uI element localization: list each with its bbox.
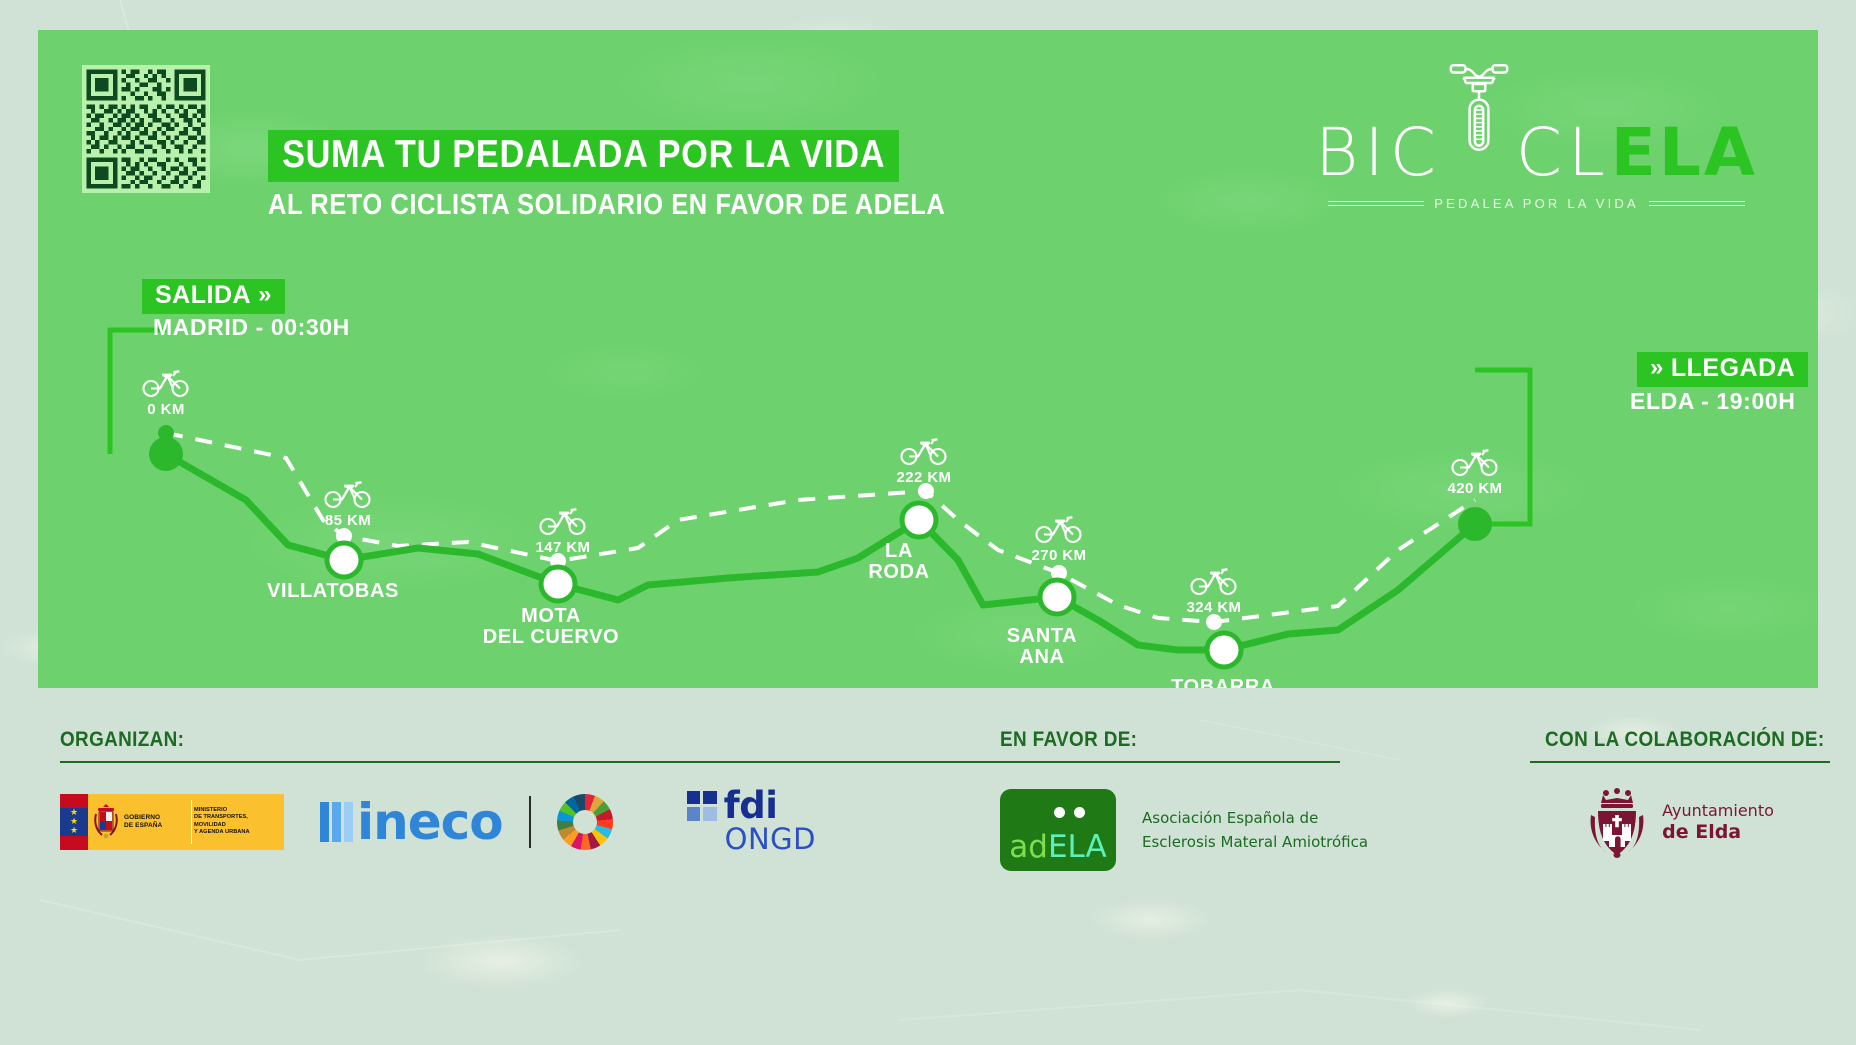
waypoint-km-label: 222 KM xyxy=(897,470,952,486)
collaboration-title: CON LA COLABORACIÓN DE: xyxy=(1545,728,1815,752)
start-badge-label: SALIDA xyxy=(155,283,251,308)
ineco-logo: ineco xyxy=(320,797,503,847)
bicycle-icon xyxy=(539,506,587,541)
fdi-ongd-logo: fdi ONGD xyxy=(687,789,816,854)
bicycle-icon xyxy=(1190,566,1238,601)
waypoint-city-label: LA RODA xyxy=(868,541,929,583)
elda-logo: Ayuntamiento de Elda xyxy=(1530,785,1830,861)
waypoint-city-label: VILLATOBAS xyxy=(267,581,399,602)
adela-name-line-1: Asociación Española de xyxy=(1142,806,1368,830)
station-node[interactable] xyxy=(1040,580,1074,614)
gobierno-de-espana-logo: ★★★ GOBIE xyxy=(60,794,284,850)
route-panel: SUMA TU PEDALADA POR LA VIDA AL RETO CIC… xyxy=(38,30,1818,688)
station-node[interactable] xyxy=(327,543,361,577)
elda-name: Ayuntamiento de Elda xyxy=(1662,801,1774,845)
waypoint-km-label: 0 KM xyxy=(147,402,184,418)
finish-badge-label: LLEGADA xyxy=(1671,356,1795,381)
waypoint-city-label: TOBARRA xyxy=(1171,677,1275,688)
elda-line-1: Ayuntamiento xyxy=(1662,801,1774,821)
adela-wordmark: adELA xyxy=(1009,832,1106,863)
waypoint-km-label: 324 KM xyxy=(1187,600,1242,616)
waypoint-city-label: MOTA DEL CUERVO xyxy=(483,606,619,648)
waypoint-km-label: 147 KM xyxy=(536,540,591,556)
collaboration-section: CON LA COLABORACIÓN DE: xyxy=(1530,728,1830,861)
bicycle-icon xyxy=(324,479,372,514)
waypoint-km-label: 85 KM xyxy=(325,513,371,529)
organizers-rule xyxy=(60,761,1000,763)
fdi-subtitle: ONGD xyxy=(725,825,816,854)
organizers-logos: ★★★ GOBIE xyxy=(60,789,1000,854)
ineco-wordmark: ineco xyxy=(357,797,503,847)
fdi-grid-icon xyxy=(687,791,717,821)
bicycle-icon xyxy=(1035,514,1083,549)
adela-full-name: Asociación Española de Esclerosis Matera… xyxy=(1142,806,1368,854)
station-node[interactable] xyxy=(541,567,575,601)
waypoint-km-label: 420 KM xyxy=(1448,481,1503,497)
beneficiary-title: EN FAVOR DE: xyxy=(1000,728,1306,752)
adela-name-line-2: Esclerosis Materal Amiotrófica xyxy=(1142,830,1368,854)
elda-line-2: de Elda xyxy=(1662,821,1774,845)
adela-prefix: ad xyxy=(1009,829,1048,865)
organizers-section: ORGANIZAN: ★★★ xyxy=(60,728,1000,854)
organizers-title: ORGANIZAN: xyxy=(60,728,906,752)
station-node[interactable] xyxy=(902,503,936,537)
beneficiary-section: EN FAVOR DE: adELA Asociación Española d… xyxy=(1000,728,1340,871)
ineco-bars-icon xyxy=(320,802,353,842)
beneficiary-rule xyxy=(1000,761,1340,763)
spain-coat-of-arms-icon xyxy=(93,802,119,842)
footer: ORGANIZAN: ★★★ xyxy=(0,700,1856,1045)
trail-dot xyxy=(1206,614,1222,630)
station-node[interactable] xyxy=(1207,633,1241,667)
logo-divider xyxy=(529,796,531,848)
waypoint-city-label: SANTA ANA xyxy=(1007,626,1077,668)
chevron-right-icon: » xyxy=(258,283,272,307)
collaboration-rule xyxy=(1530,761,1830,763)
bicycle-icon xyxy=(142,368,190,403)
chevron-right-icon: » xyxy=(1650,356,1664,380)
station-node-start[interactable] xyxy=(149,437,183,471)
bicycle-icon xyxy=(900,436,948,471)
ministerio-label: MINISTERIO DE TRANSPORTES, MOVILIDAD Y A… xyxy=(194,807,280,836)
finish-city-time: ELDA - 19:00H xyxy=(1630,390,1795,413)
adela-suffix: ELA xyxy=(1048,829,1107,865)
adela-logo: adELA xyxy=(1000,789,1116,871)
spain-flag-icon: ★★★ xyxy=(60,794,88,850)
adela-dots-icon xyxy=(1054,807,1085,818)
elda-coat-of-arms-icon xyxy=(1586,785,1648,861)
station-node-finish[interactable] xyxy=(1458,507,1492,541)
start-badge: SALIDA » xyxy=(142,279,285,314)
sdg-wheel-icon xyxy=(557,794,613,850)
start-city-time: MADRID - 00:30H xyxy=(153,316,350,339)
finish-badge: » LLEGADA xyxy=(1637,352,1808,387)
waypoint-km-label: 270 KM xyxy=(1032,548,1087,564)
bicycle-icon xyxy=(1451,447,1499,482)
fdi-wordmark: fdi xyxy=(724,789,778,822)
gobierno-label: GOBIERNO DE ESPAÑA xyxy=(124,814,162,830)
